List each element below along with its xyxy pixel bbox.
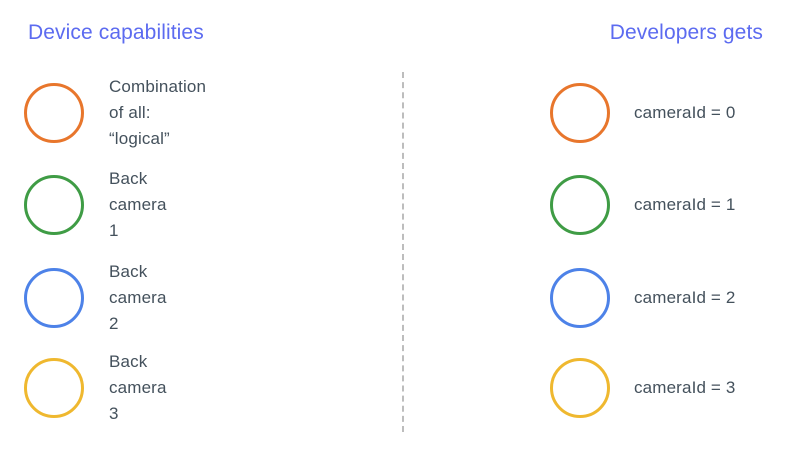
circle-outline-green-icon	[24, 175, 84, 235]
circle-outline-blue-icon	[24, 268, 84, 328]
list-item: cameraId = 0	[550, 82, 736, 144]
list-item: Back camera 3	[24, 357, 167, 419]
camera-capabilities-diagram: Device capabilities Developers gets Comb…	[0, 0, 800, 467]
right-column-header: Developers gets	[610, 20, 763, 46]
left-column-header: Device capabilities	[28, 20, 204, 46]
list-item: cameraId = 1	[550, 174, 736, 236]
list-item-label: cameraId = 2	[634, 285, 736, 311]
list-item-label: cameraId = 0	[634, 100, 736, 126]
list-item-label: Combination of all: “logical”	[109, 74, 206, 152]
circle-outline-yellow-icon	[24, 358, 84, 418]
list-item: Back camera 1	[24, 174, 167, 236]
circle-outline-orange-icon	[550, 83, 610, 143]
circle-outline-orange-icon	[24, 83, 84, 143]
list-item: Combination of all: “logical”	[24, 82, 206, 144]
list-item: Back camera 2	[24, 267, 167, 329]
list-item: cameraId = 3	[550, 357, 736, 419]
list-item: cameraId = 2	[550, 267, 736, 329]
list-item-label: Back camera 3	[109, 349, 167, 427]
circle-outline-blue-icon	[550, 268, 610, 328]
vertical-dashed-divider	[402, 72, 404, 432]
circle-outline-yellow-icon	[550, 358, 610, 418]
list-item-label: cameraId = 3	[634, 375, 736, 401]
circle-outline-green-icon	[550, 175, 610, 235]
list-item-label: Back camera 1	[109, 166, 167, 244]
list-item-label: cameraId = 1	[634, 192, 736, 218]
list-item-label: Back camera 2	[109, 259, 167, 337]
